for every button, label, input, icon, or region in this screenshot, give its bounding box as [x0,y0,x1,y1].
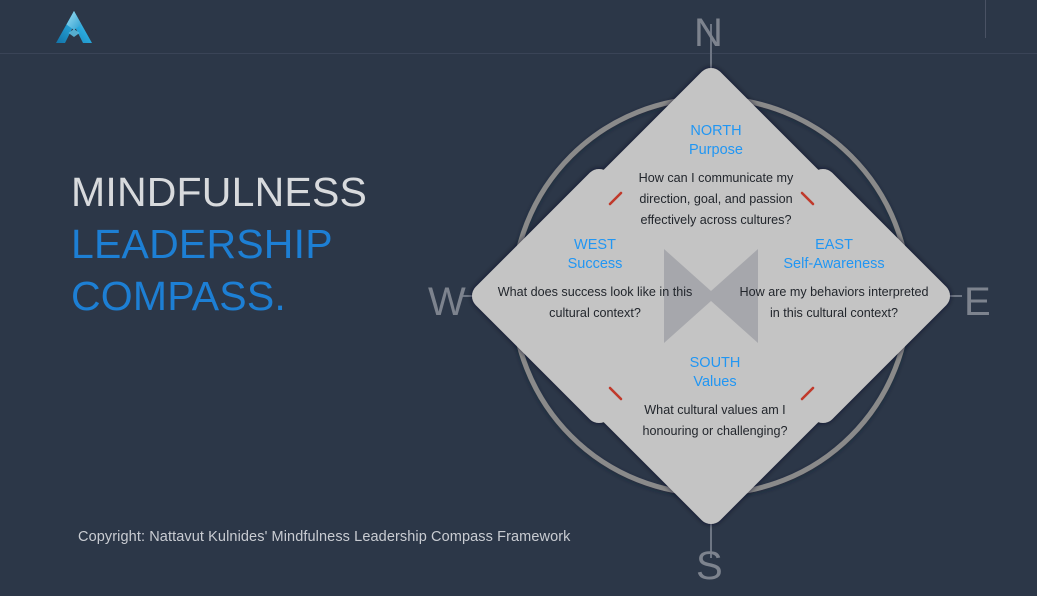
quadrant-north[interactable]: NORTH Purpose How can I communicate my d… [616,122,816,231]
quadrant-east-direction: EAST [734,236,934,255]
cardinal-label-north: N [694,13,723,53]
cardinal-label-west: W [428,282,466,322]
quadrant-west-theme: Success [495,255,695,274]
quadrant-south-question: What cultural values am I honouring or c… [615,400,815,442]
quadrant-north-direction: NORTH [616,122,816,141]
mountain-logo-icon[interactable] [54,9,94,45]
quadrant-east-theme: Self-Awareness [734,255,934,274]
cardinal-label-east: E [964,282,991,322]
quadrant-north-question: How can I communicate my direction, goal… [616,168,816,231]
quadrant-east[interactable]: EAST Self-Awareness How are my behaviors… [734,236,934,324]
quadrant-west-direction: WEST [495,236,695,255]
quadrant-south[interactable]: SOUTH Values What cultural values am I h… [615,354,815,442]
quadrant-west-question: What does success look like in this cult… [495,282,695,324]
cardinal-label-south: S [696,546,723,586]
quadrant-west[interactable]: WEST Success What does success look like… [495,236,695,324]
quadrant-north-theme: Purpose [616,141,816,160]
quadrant-south-direction: SOUTH [615,354,815,373]
quadrant-east-question: How are my behaviors interpreted in this… [734,282,934,324]
quadrant-south-theme: Values [615,373,815,392]
compass-diagram: N E S W NORTH Purpose How can I communic… [402,0,1037,596]
